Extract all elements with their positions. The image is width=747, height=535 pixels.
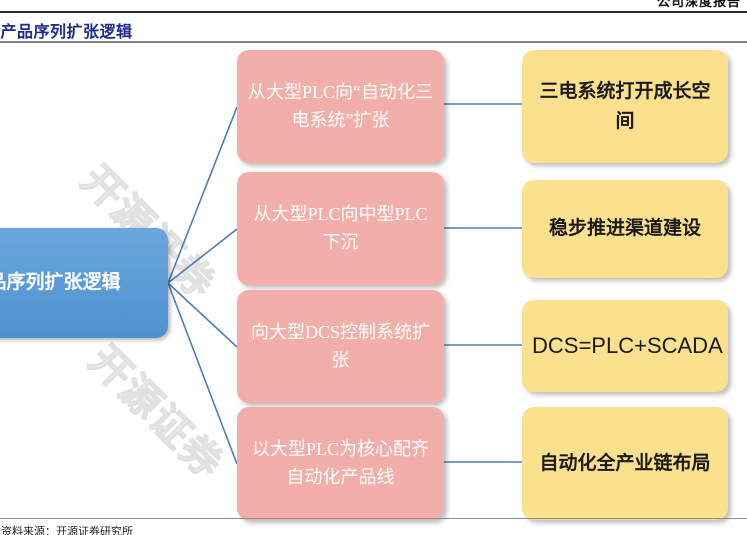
figure-page: 公司深度报告 化产品序列扩张逻辑 开源证券 开源证券 品序列扩张逻辑 从大型PL… <box>0 0 747 535</box>
diagram-node-leaf-3[interactable]: DCS=PLC+SCADA <box>522 300 728 392</box>
diagram-node-leaf-4[interactable]: 自动化全产业链布局 <box>522 407 728 520</box>
source-note: 资料来源：开源证券研究所 <box>1 523 133 535</box>
node-label: 自动化全产业链布局 <box>532 449 718 478</box>
watermark: 开源证券 <box>79 330 239 490</box>
footer-divider <box>0 518 747 519</box>
node-label: 品序列扩张逻辑 <box>0 268 158 297</box>
header-divider <box>0 11 747 13</box>
node-label: DCS=PLC+SCADA <box>532 329 718 363</box>
title-divider <box>0 41 747 43</box>
node-label: 从大型PLC向中型PLC下沉 <box>247 201 434 257</box>
node-label: 向大型DCS控制系统扩张 <box>247 319 434 375</box>
diagram-node-middle-2[interactable]: 从大型PLC向中型PLC下沉 <box>237 172 444 285</box>
node-label: 稳步推进渠道建设 <box>532 214 718 243</box>
running-head: 公司深度报告 <box>657 0 741 10</box>
diagram-node-middle-4[interactable]: 以大型PLC为核心配齐自动化产品线 <box>237 407 444 520</box>
diagram-node-root[interactable]: 品序列扩张逻辑 <box>0 228 168 338</box>
diagram-node-leaf-1[interactable]: 三电系统打开成长空间 <box>522 50 728 163</box>
figure-title: 化产品序列扩张逻辑 <box>0 18 133 42</box>
node-label: 从大型PLC向“自动化三电系统”扩张 <box>247 79 434 135</box>
diagram-node-leaf-2[interactable]: 稳步推进渠道建设 <box>522 180 728 278</box>
node-label: 三电系统打开成长空间 <box>532 77 718 136</box>
node-label: 以大型PLC为核心配齐自动化产品线 <box>247 436 434 492</box>
diagram-node-middle-1[interactable]: 从大型PLC向“自动化三电系统”扩张 <box>237 50 444 163</box>
diagram-node-middle-3[interactable]: 向大型DCS控制系统扩张 <box>237 290 444 403</box>
